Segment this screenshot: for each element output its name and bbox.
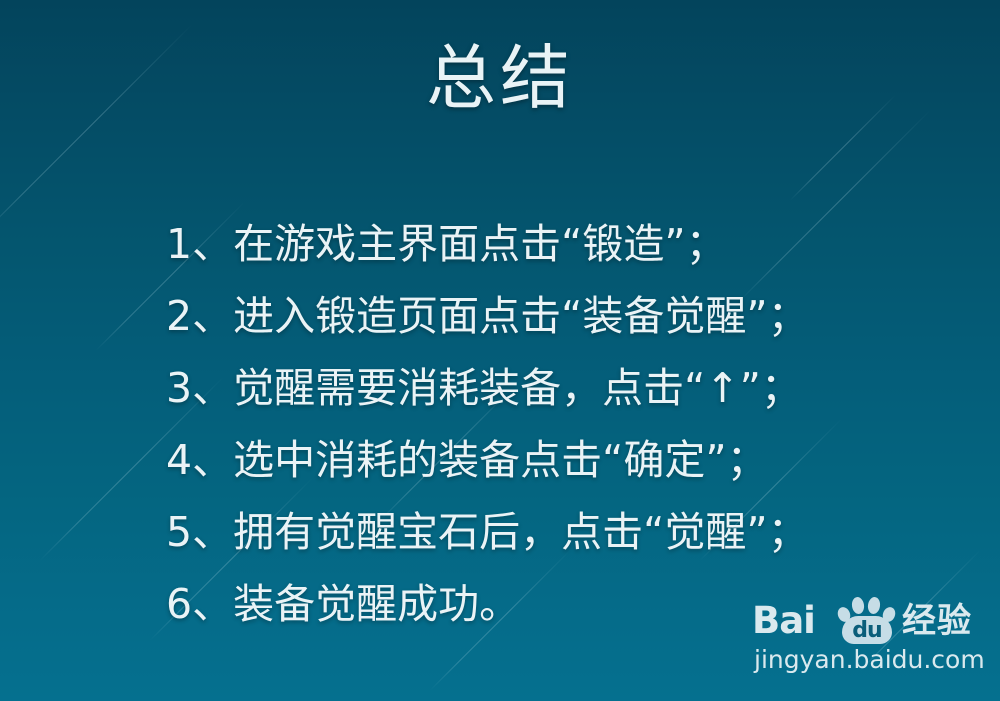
baidu-jingyan-watermark: Bai du 经验 jingyan.baidu.com — [752, 596, 990, 678]
list-item: 5、拥有觉醒宝石后，点击“觉醒”； — [166, 496, 926, 568]
paw-pad-icon: du — [842, 616, 892, 644]
list-item: 4、选中消耗的装备点击“确定”； — [166, 424, 926, 496]
baidu-paw-icon: du — [836, 596, 898, 644]
watermark-url: jingyan.baidu.com — [754, 646, 985, 674]
paw-toe-icon — [867, 596, 881, 615]
list-item: 2、进入锻造页面点击“装备觉醒”； — [166, 280, 926, 352]
page-title: 总结 — [0, 36, 1000, 120]
list-item: 1、在游戏主界面点击“锻造”； — [166, 208, 926, 280]
watermark-logo-row: Bai du 经验 — [752, 596, 990, 644]
summary-step-list: 1、在游戏主界面点击“锻造”； 2、进入锻造页面点击“装备觉醒”； 3、觉醒需要… — [166, 208, 926, 640]
paw-toe-icon — [851, 596, 865, 615]
baidu-wordmark-cn: 经验 — [902, 603, 972, 639]
slide-canvas: 总结 1、在游戏主界面点击“锻造”； 2、进入锻造页面点击“装备觉醒”； 3、觉… — [0, 0, 1000, 701]
paw-pad-label: du — [842, 617, 892, 644]
list-item: 3、觉醒需要消耗装备，点击“↑”； — [166, 352, 926, 424]
baidu-wordmark-latin: Bai — [752, 602, 815, 639]
